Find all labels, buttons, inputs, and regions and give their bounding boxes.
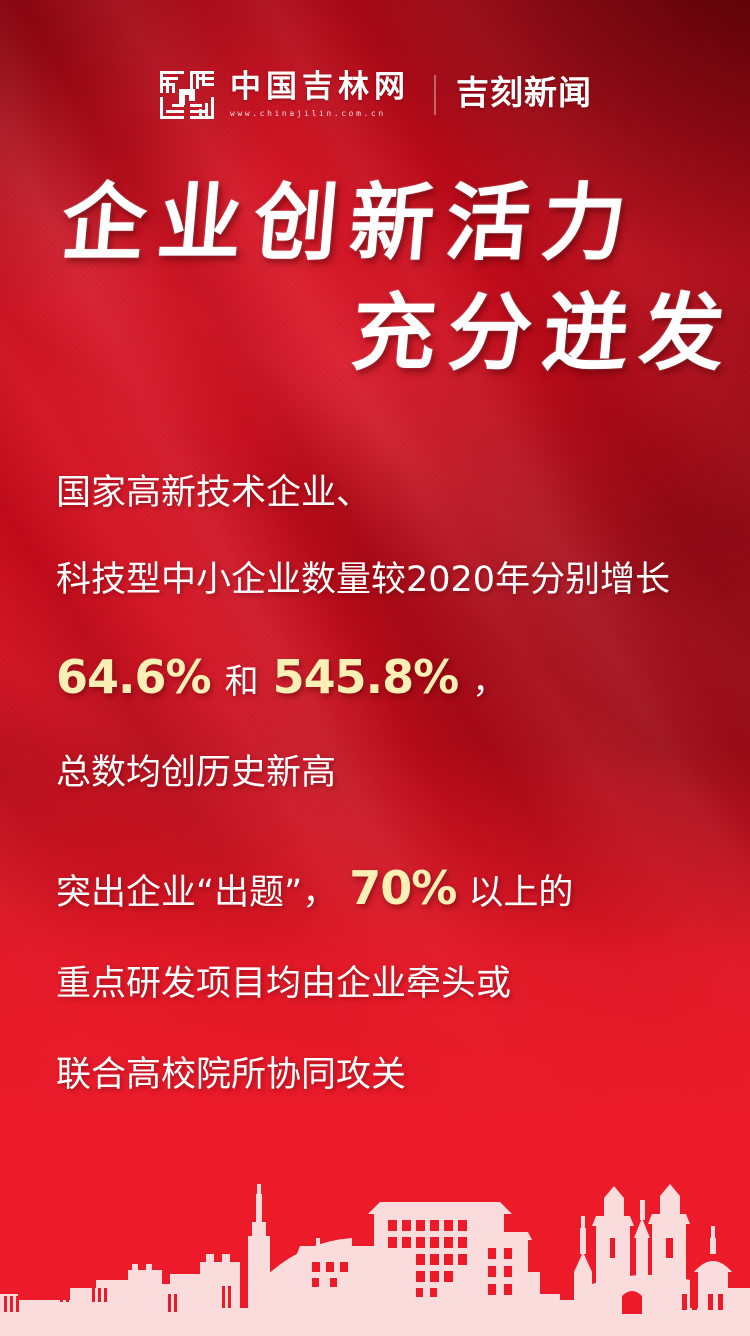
poster-canvas: 中国吉林网 www.chinajilin.com.cn 吉刻新闻 企业创新活力 …: [0, 0, 750, 1336]
brand-divider: [434, 75, 436, 115]
body-line-3: 总数均创历史新高: [56, 756, 706, 791]
headline-line-2: 充分迸发: [0, 286, 750, 380]
body-line-4-prefix: 突出企业“出题”，: [56, 876, 337, 911]
brand-header: 中国吉林网 www.chinajilin.com.cn 吉刻新闻: [0, 68, 750, 122]
body-line-2: 科技型中小企业数量较2020年分别增长: [56, 563, 706, 598]
spacer: [56, 700, 706, 756]
stat-value-3: 70%: [337, 865, 456, 911]
headline-block: 企业创新活力 充分迸发: [0, 176, 750, 380]
spacer: [56, 1002, 706, 1058]
spacer: [56, 911, 706, 967]
stat-value-2: 545.8%: [273, 654, 459, 700]
spacer: [56, 598, 706, 654]
stat-value-1: 64.6%: [56, 654, 211, 700]
body-line-4: 突出企业“出题”， 70% 以上的: [56, 865, 706, 911]
headline-line-1: 企业创新活力: [0, 176, 750, 270]
body-line-5: 重点研发项目均由企业牵头或: [56, 967, 706, 1002]
sub-brand-name: 吉刻新闻: [456, 76, 592, 115]
spacer: [56, 511, 706, 563]
spacer: [56, 791, 706, 865]
brand-wordmark: 中国吉林网 www.chinajilin.com.cn: [230, 72, 410, 118]
brand-url-text: www.chinajilin.com.cn: [230, 109, 386, 118]
stat-trailing-comma: ，: [458, 665, 506, 699]
chinajilin-pinwheel-logo-icon: [158, 68, 216, 122]
body-line-1: 国家高新技术企业、: [56, 476, 706, 511]
brand-name-cn: 中国吉林网: [230, 72, 410, 103]
body-copy-block: 国家高新技术企业、 科技型中小企业数量较2020年分别增长 64.6% 和 54…: [56, 476, 706, 1093]
body-line-4-suffix: 以上的: [456, 876, 573, 911]
body-line-6: 联合高校院所协同攻关: [56, 1058, 706, 1093]
body-stats-line: 64.6% 和 545.8% ，: [56, 654, 706, 700]
stat-joiner: 和: [211, 665, 273, 699]
